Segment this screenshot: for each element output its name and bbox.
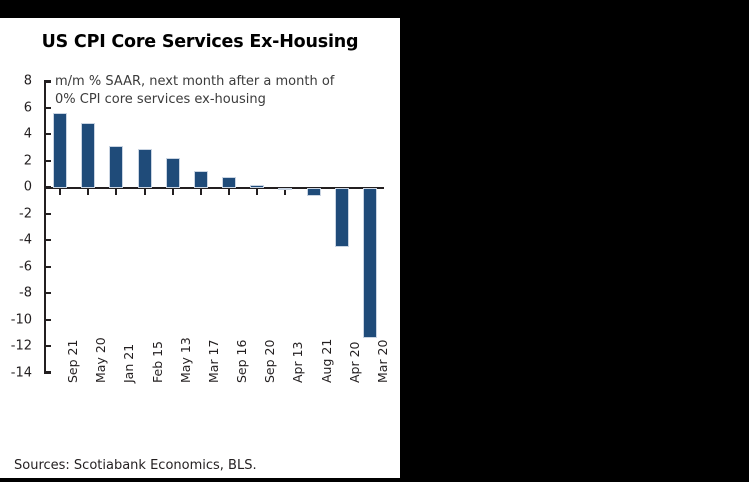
y-axis-tick [44, 239, 51, 241]
y-axis-tick-label: -4 [0, 233, 32, 248]
y-axis-tick [44, 160, 51, 162]
y-axis-tick-label: 4 [0, 127, 32, 142]
x-axis-tick [59, 189, 61, 195]
x-axis-tick [87, 189, 89, 195]
y-axis-tick [44, 133, 51, 135]
x-axis-tick-label: Apr 20 [347, 341, 362, 383]
y-axis-tick [44, 80, 51, 82]
y-axis-tick-label: 0 [0, 180, 32, 195]
y-axis-spine [44, 81, 46, 373]
x-axis-tick-label: Mar 20 [375, 340, 390, 383]
bar [138, 149, 152, 188]
bar [307, 188, 321, 196]
sources-note: Sources: Scotiabank Economics, BLS. [14, 458, 257, 473]
y-axis-tick [44, 292, 51, 294]
x-axis-tick-label: Jan 21 [121, 344, 136, 383]
x-axis-tick-label: May 20 [93, 337, 108, 383]
x-axis-tick [228, 189, 230, 195]
x-axis-tick-label: Mar 17 [206, 340, 221, 383]
y-axis-tick [44, 345, 51, 347]
y-axis-tick [44, 213, 51, 215]
x-axis-tick-label: Sep 16 [234, 340, 249, 383]
bar [166, 158, 180, 188]
y-axis-tick-label: 2 [0, 153, 32, 168]
chart-title: US CPI Core Services Ex-Housing [0, 32, 400, 52]
x-axis-tick [172, 189, 174, 195]
y-axis-tick-label: 8 [0, 74, 32, 89]
y-axis-tick-label: -6 [0, 259, 32, 274]
bar [81, 123, 95, 188]
bar [278, 188, 292, 190]
x-axis-tick [115, 189, 117, 195]
y-axis-tick [44, 266, 51, 268]
bar [335, 188, 349, 246]
bar [250, 185, 264, 189]
x-axis-tick-label: May 13 [178, 337, 193, 383]
y-axis-tick-label: -10 [0, 312, 32, 327]
x-axis-tick [256, 189, 258, 195]
bar [109, 146, 123, 188]
x-axis-tick [200, 189, 202, 195]
y-axis-tick-label: -14 [0, 366, 32, 381]
chart-panel: US CPI Core Services Ex-Housing m/m % SA… [0, 18, 400, 478]
x-axis-tick-label: Sep 21 [65, 340, 80, 383]
x-axis-tick-label: Apr 13 [290, 341, 305, 383]
bar [53, 113, 67, 188]
bar [194, 171, 208, 188]
x-axis-tick-label: Feb 15 [150, 341, 165, 383]
plot-area: 86420-2-4-6-8-10-12-14 Sep 21May 20Jan 2… [46, 81, 384, 373]
y-axis-tick-label: 6 [0, 100, 32, 115]
bar [363, 188, 377, 338]
y-axis-tick [44, 372, 51, 374]
x-axis-tick-label: Aug 21 [319, 339, 334, 383]
y-axis-tick-label: -12 [0, 339, 32, 354]
y-axis-tick [44, 107, 51, 109]
bar [222, 177, 236, 189]
y-axis-tick-label: -2 [0, 206, 32, 221]
y-axis-tick-label: -8 [0, 286, 32, 301]
y-axis-tick [44, 319, 51, 321]
x-axis-tick [144, 189, 146, 195]
x-axis-tick-label: Sep 20 [262, 340, 277, 383]
